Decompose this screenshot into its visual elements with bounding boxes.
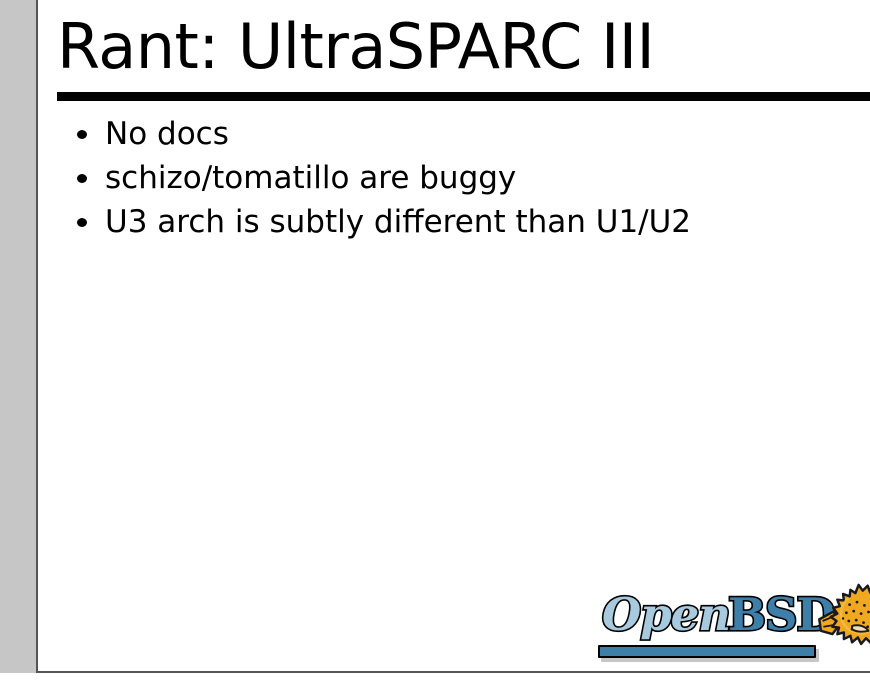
slide-canvas: Rant: UltraSPARC III No docs schizo/toma… <box>38 0 870 671</box>
slide-title: Rant: UltraSPARC III <box>57 8 654 86</box>
title-underline-rule <box>57 92 870 101</box>
left-gutter-strip <box>0 0 36 673</box>
logo-word-open: Open <box>602 588 730 641</box>
bullet-text: schizo/tomatillo are buggy <box>105 160 516 196</box>
openbsd-wordmark: OpenBSD <box>598 587 813 649</box>
bullet-list: No docs schizo/tomatillo are buggy U3 ar… <box>57 112 857 244</box>
logo-underbar <box>598 645 816 658</box>
bullet-dot-icon <box>77 218 87 227</box>
presentation-slide: Rant: UltraSPARC III No docs schizo/toma… <box>0 0 870 681</box>
puffy-blowfish-icon <box>816 579 870 663</box>
openbsd-logo: OpenBSD <box>568 575 868 670</box>
bullet-dot-icon <box>77 130 87 139</box>
bullet-dot-icon <box>77 174 87 183</box>
bullet-text: No docs <box>105 116 229 152</box>
list-item: No docs <box>57 112 857 156</box>
list-item: schizo/tomatillo are buggy <box>57 156 857 200</box>
logo-text: OpenBSD <box>602 587 835 643</box>
slide-bottom-border <box>36 671 870 673</box>
list-item: U3 arch is subtly different than U1/U2 <box>57 200 857 244</box>
bullet-text: U3 arch is subtly different than U1/U2 <box>105 204 691 240</box>
